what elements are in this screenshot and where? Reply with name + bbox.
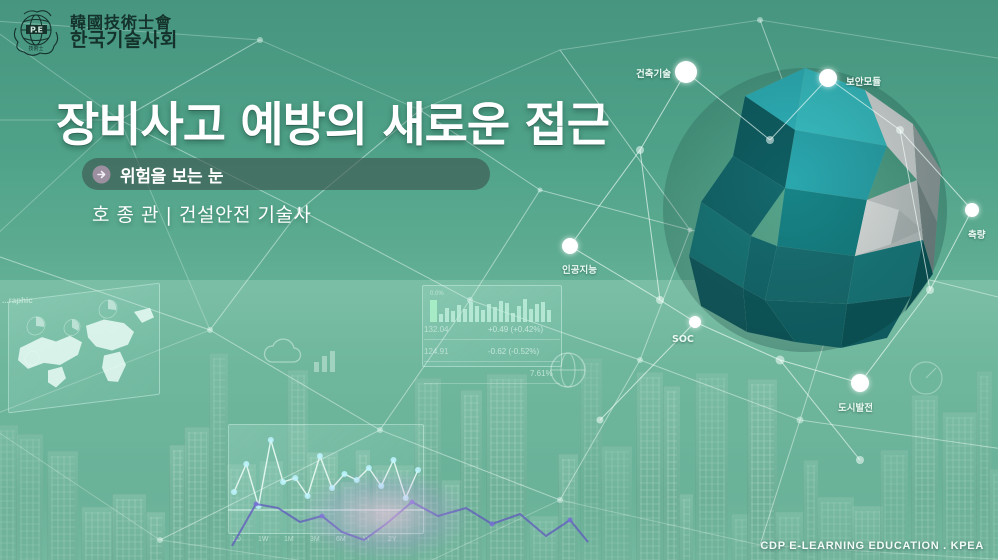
network-node-dot	[851, 374, 869, 392]
network-node-dot	[562, 238, 578, 254]
network-node-dot	[965, 203, 979, 217]
network-node-label: 인공지능	[562, 262, 597, 276]
organization-logo: P.E 技術士 韓國技術士會 한국기술사회	[10, 8, 178, 58]
arrow-circle-right-icon	[92, 165, 111, 184]
network-node-dot	[675, 61, 697, 83]
presentation-slide: ...raphic 0.0% 132.04+0.49 (+0.42%)124.9…	[0, 0, 998, 560]
slide-title: 장비사고 예방의 새로운 접근	[56, 86, 609, 155]
network-node-dot	[819, 69, 837, 87]
logo-korean-text: 한국기술사회	[70, 31, 178, 51]
kpea-globe-emblem-icon: P.E 技術士	[10, 8, 62, 58]
network-node-dot	[689, 316, 701, 328]
network-node-label: SOC	[672, 334, 694, 345]
svg-text:技術士: 技術士	[28, 45, 43, 52]
subtitle-label: 위험을 보는 눈	[120, 162, 223, 187]
subtitle-badge[interactable]: 위험을 보는 눈	[82, 158, 490, 190]
emblem-pe-text: P.E	[30, 26, 43, 35]
network-node-label: 건축기술	[636, 66, 671, 80]
footer-credit: CDP E-LEARNING EDUCATION . KPEA	[760, 540, 984, 552]
author-line: 호 종 관 | 건설안전 기술사	[92, 200, 311, 227]
network-node-label: 도시발전	[838, 400, 873, 414]
network-node-label: 측량	[968, 227, 985, 241]
network-node-label: 보안모듈	[846, 74, 881, 88]
